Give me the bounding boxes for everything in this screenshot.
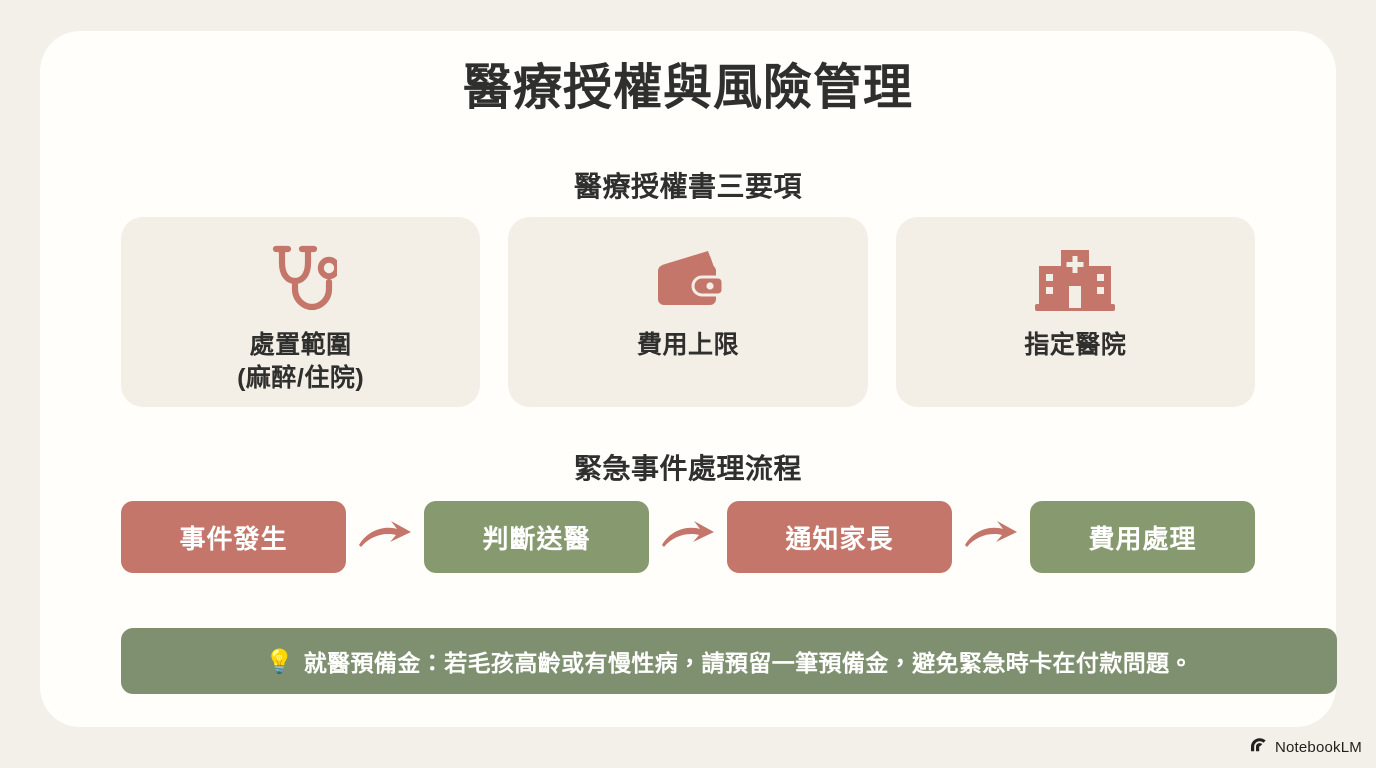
- emergency-flow-row: 事件發生 判斷送醫 通知家長 費用處理: [121, 501, 1337, 573]
- lightbulb-icon: 💡: [265, 650, 294, 673]
- slide-card: 醫療授權與風險管理 醫療授權書三要項: [40, 31, 1336, 727]
- curved-arrow-right-icon: [952, 519, 1030, 555]
- key-item-label: 費用上限: [637, 329, 739, 362]
- key-item-card-designated-hospital: 指定醫院: [896, 217, 1255, 407]
- slide-root: 醫療授權與風險管理 醫療授權書三要項: [0, 0, 1376, 768]
- tip-banner: 💡 就醫預備金：若毛孩高齡或有慢性病，請預留一筆預備金，避免緊急時卡在付款問題。: [121, 628, 1337, 694]
- key-item-card-cost-limit: 費用上限: [508, 217, 867, 407]
- notebooklm-logo-icon: [1250, 737, 1269, 758]
- tip-text: 就醫預備金：若毛孩高齡或有慢性病，請預留一筆預備金，避免緊急時卡在付款問題。: [304, 644, 1193, 678]
- wallet-icon: [648, 239, 728, 325]
- key-item-card-treatment-scope: 處置範圍 (麻醉/住院): [121, 217, 480, 407]
- page-title: 醫療授權與風險管理: [40, 58, 1336, 119]
- flow-step-notify-owner: 通知家長: [727, 501, 952, 573]
- curved-arrow-right-icon: [649, 519, 727, 555]
- key-items-heading: 醫療授權書三要項: [40, 165, 1336, 205]
- key-items-card-row: 處置範圍 (麻醉/住院) 費用上限: [121, 217, 1255, 407]
- hospital-icon: [1033, 239, 1117, 325]
- flow-step-cost-handling: 費用處理: [1030, 501, 1255, 573]
- key-item-label: 指定醫院: [1024, 329, 1126, 362]
- stethoscope-icon: [265, 239, 337, 325]
- flow-step-assess-transport: 判斷送醫: [424, 501, 649, 573]
- key-item-label: 處置範圍 (麻醉/住院): [237, 329, 364, 395]
- curved-arrow-right-icon: [346, 519, 424, 555]
- flow-heading: 緊急事件處理流程: [40, 447, 1336, 487]
- watermark: NotebookLM: [1250, 737, 1362, 758]
- watermark-label: NotebookLM: [1275, 739, 1362, 756]
- flow-step-incident: 事件發生: [121, 501, 346, 573]
